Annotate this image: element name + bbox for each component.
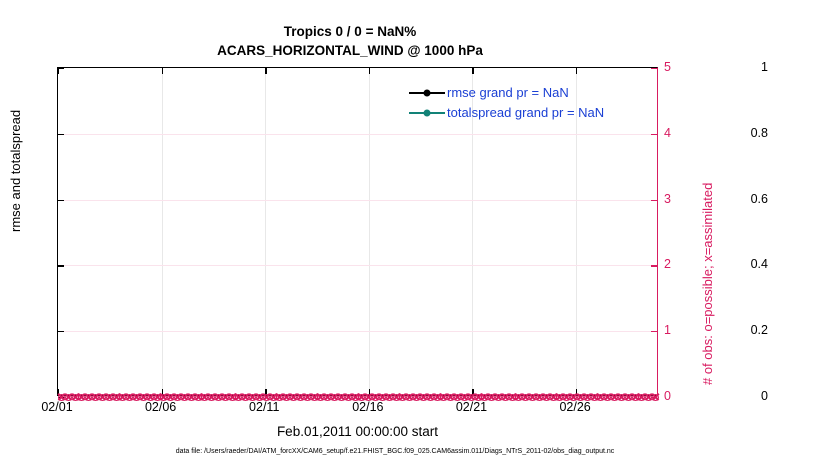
obs-assimilated-marker: [99, 394, 106, 401]
obs-possible-marker: [638, 394, 645, 401]
obs-assimilated-marker: [290, 394, 297, 401]
y2-tick-label: 4: [664, 126, 671, 140]
legend-item-totalspread[interactable]: totalspread grand pr = NaN: [409, 104, 604, 121]
gridline-vertical: [369, 68, 370, 395]
obs-possible-marker: [427, 394, 434, 401]
x-tick: [58, 389, 59, 395]
obs-assimilated-marker: [434, 394, 441, 401]
obs-assimilated-marker: [324, 394, 331, 401]
obs-assimilated-marker: [188, 394, 195, 401]
obs-assimilated-marker: [297, 394, 304, 401]
x-tick-label: 02/21: [456, 400, 487, 414]
y2-tick: [651, 200, 657, 201]
obs-assimilated-marker: [304, 394, 311, 401]
obs-possible-marker: [311, 394, 318, 401]
obs-possible-marker: [611, 394, 618, 401]
obs-possible-marker: [625, 394, 632, 401]
x-tick-top: [472, 68, 473, 74]
obs-possible-marker: [106, 394, 113, 401]
chart-legend[interactable]: rmse grand pr = NaN totalspread grand pr…: [409, 84, 604, 121]
obs-possible-marker: [502, 394, 509, 401]
figure-canvas: Tropics 0 / 0 = NaN% ACARS_HORIZONTAL_WI…: [0, 0, 830, 470]
x-tick: [265, 389, 266, 395]
obs-assimilated-marker: [522, 394, 529, 401]
obs-assimilated-marker: [406, 394, 413, 401]
obs-possible-marker: [406, 394, 413, 401]
obs-possible-marker: [338, 394, 345, 401]
obs-possible-marker: [133, 394, 140, 401]
x-tick-label: 02/16: [352, 400, 383, 414]
data-file-footer: data file: /Users/raeder/DAI/ATM_forcXX/…: [0, 448, 790, 455]
obs-assimilated-marker: [386, 394, 393, 401]
x-tick-top: [265, 68, 266, 74]
obs-possible-marker: [495, 394, 502, 401]
obs-possible-marker: [618, 394, 625, 401]
y2-tick-label: 3: [664, 192, 671, 206]
obs-assimilated-marker: [399, 394, 406, 401]
y-tick: [58, 331, 64, 332]
obs-possible-marker: [201, 394, 208, 401]
obs-assimilated-marker: [638, 394, 645, 401]
obs-assimilated-marker: [119, 394, 126, 401]
obs-possible-marker: [229, 394, 236, 401]
obs-possible-marker: [297, 394, 304, 401]
obs-possible-marker: [447, 394, 454, 401]
y-tick-label: 0.6: [751, 192, 768, 206]
y2-tick-label: 5: [664, 60, 671, 74]
obs-assimilated-marker: [597, 394, 604, 401]
y2-tick: [651, 68, 657, 69]
obs-assimilated-marker: [222, 394, 229, 401]
obs-assimilated-marker: [515, 394, 522, 401]
obs-possible-marker: [393, 394, 400, 401]
obs-assimilated-marker: [427, 394, 434, 401]
y-tick: [58, 397, 64, 398]
legend-marker-totalspread-icon: [409, 106, 445, 120]
obs-assimilated-marker: [331, 394, 338, 401]
obs-assimilated-marker: [440, 394, 447, 401]
y2-tick-label: 1: [664, 323, 671, 337]
obs-possible-marker: [119, 394, 126, 401]
obs-assimilated-marker: [632, 394, 639, 401]
obs-possible-marker: [591, 394, 598, 401]
obs-assimilated-marker: [338, 394, 345, 401]
obs-possible-marker: [440, 394, 447, 401]
obs-possible-marker: [420, 394, 427, 401]
obs-assimilated-marker: [195, 394, 202, 401]
obs-assimilated-marker: [502, 394, 509, 401]
obs-possible-marker: [222, 394, 229, 401]
obs-assimilated-marker: [85, 394, 92, 401]
obs-assimilated-marker: [92, 394, 99, 401]
obs-assimilated-marker: [447, 394, 454, 401]
obs-assimilated-marker: [345, 394, 352, 401]
obs-assimilated-marker: [126, 394, 133, 401]
obs-possible-marker: [488, 394, 495, 401]
obs-assimilated-marker: [317, 394, 324, 401]
obs-assimilated-marker: [509, 394, 516, 401]
x-tick-label: 02/11: [249, 400, 279, 414]
chart-subtitle: ACARS_HORIZONTAL_WIND @ 1000 hPa: [0, 41, 700, 60]
y-tick: [58, 265, 64, 266]
obs-assimilated-marker: [133, 394, 140, 401]
y2-tick: [651, 331, 657, 332]
obs-assimilated-marker: [215, 394, 222, 401]
y-tick-label: 0: [761, 389, 768, 403]
obs-possible-marker: [386, 394, 393, 401]
obs-possible-marker: [632, 394, 639, 401]
obs-assimilated-marker: [618, 394, 625, 401]
legend-marker-rmse-icon: [409, 86, 445, 100]
obs-assimilated-marker: [106, 394, 113, 401]
obs-possible-marker: [597, 394, 604, 401]
obs-possible-marker: [331, 394, 338, 401]
obs-possible-marker: [399, 394, 406, 401]
x-axis-label: Feb.01,2011 00:00:00 start: [57, 424, 658, 439]
obs-assimilated-marker: [604, 394, 611, 401]
legend-item-rmse[interactable]: rmse grand pr = NaN: [409, 84, 604, 101]
obs-possible-marker: [188, 394, 195, 401]
obs-assimilated-marker: [229, 394, 236, 401]
x-tick-label: 02/26: [559, 400, 590, 414]
obs-possible-marker: [550, 394, 557, 401]
x-tick-top: [162, 68, 163, 74]
obs-possible-marker: [208, 394, 215, 401]
obs-assimilated-marker: [536, 394, 543, 401]
obs-assimilated-marker: [235, 394, 242, 401]
obs-assimilated-marker: [488, 394, 495, 401]
y2-tick-label: 0: [664, 389, 671, 403]
gridline-horizontal: [58, 200, 657, 201]
obs-assimilated-marker: [413, 394, 420, 401]
obs-possible-marker: [604, 394, 611, 401]
gridline-vertical: [162, 68, 163, 395]
obs-possible-marker: [434, 394, 441, 401]
obs-possible-marker: [509, 394, 516, 401]
obs-assimilated-marker: [625, 394, 632, 401]
obs-assimilated-marker: [201, 394, 208, 401]
obs-possible-marker: [283, 394, 290, 401]
y2-tick-label: 2: [664, 257, 671, 271]
obs-assimilated-marker: [208, 394, 215, 401]
x-tick-label: 02/01: [41, 400, 72, 414]
y-tick: [58, 134, 64, 135]
secondary-y-axis-label: # of obs: o=possible; x=assimilated: [700, 183, 715, 385]
obs-possible-marker: [304, 394, 311, 401]
y2-tick: [651, 134, 657, 135]
page-title: Tropics 0 / 0 = NaN%: [0, 22, 700, 41]
chart-title-block: Tropics 0 / 0 = NaN% ACARS_HORIZONTAL_WI…: [0, 22, 700, 60]
obs-possible-marker: [536, 394, 543, 401]
obs-assimilated-marker: [529, 394, 536, 401]
obs-assimilated-marker: [311, 394, 318, 401]
obs-possible-marker: [113, 394, 120, 401]
obs-possible-marker: [515, 394, 522, 401]
x-tick-top: [576, 68, 577, 74]
gridline-vertical: [265, 68, 266, 395]
y-tick-label: 0.2: [751, 323, 768, 337]
y-tick-label: 1: [761, 60, 768, 74]
y-tick: [58, 68, 64, 69]
obs-possible-marker: [78, 394, 85, 401]
obs-possible-marker: [345, 394, 352, 401]
y-axis-label: rmse and totalspread: [8, 110, 23, 232]
x-tick: [472, 389, 473, 395]
gridline-horizontal: [58, 134, 657, 135]
obs-possible-marker: [290, 394, 297, 401]
obs-possible-marker: [215, 394, 222, 401]
obs-possible-marker: [413, 394, 420, 401]
obs-possible-marker: [317, 394, 324, 401]
x-tick-label: 02/06: [145, 400, 176, 414]
obs-possible-marker: [85, 394, 92, 401]
y2-tick: [651, 397, 657, 398]
x-tick-top: [369, 68, 370, 74]
obs-assimilated-marker: [181, 394, 188, 401]
obs-possible-marker: [324, 394, 331, 401]
obs-possible-marker: [235, 394, 242, 401]
x-tick: [162, 389, 163, 395]
obs-assimilated-marker: [543, 394, 550, 401]
obs-possible-marker: [181, 394, 188, 401]
obs-possible-marker: [126, 394, 133, 401]
legend-label-totalspread: totalspread grand pr = NaN: [447, 105, 604, 120]
obs-assimilated-marker: [495, 394, 502, 401]
gridline-horizontal: [58, 331, 657, 332]
legend-label-rmse: rmse grand pr = NaN: [447, 85, 569, 100]
obs-assimilated-marker: [611, 394, 618, 401]
y2-tick: [651, 265, 657, 266]
obs-possible-marker: [529, 394, 536, 401]
obs-possible-marker: [522, 394, 529, 401]
gridline-horizontal: [58, 265, 657, 266]
obs-assimilated-marker: [420, 394, 427, 401]
obs-possible-marker: [92, 394, 99, 401]
obs-assimilated-marker: [78, 394, 85, 401]
obs-possible-marker: [543, 394, 550, 401]
y-tick: [58, 200, 64, 201]
obs-assimilated-marker: [550, 394, 557, 401]
y-tick-label: 0.4: [751, 257, 768, 271]
obs-assimilated-marker: [113, 394, 120, 401]
x-tick: [369, 389, 370, 395]
x-tick: [576, 389, 577, 395]
obs-possible-marker: [195, 394, 202, 401]
y-tick-label: 0.8: [751, 126, 768, 140]
obs-assimilated-marker: [283, 394, 290, 401]
obs-assimilated-marker: [591, 394, 598, 401]
obs-assimilated-marker: [393, 394, 400, 401]
obs-possible-marker: [99, 394, 106, 401]
